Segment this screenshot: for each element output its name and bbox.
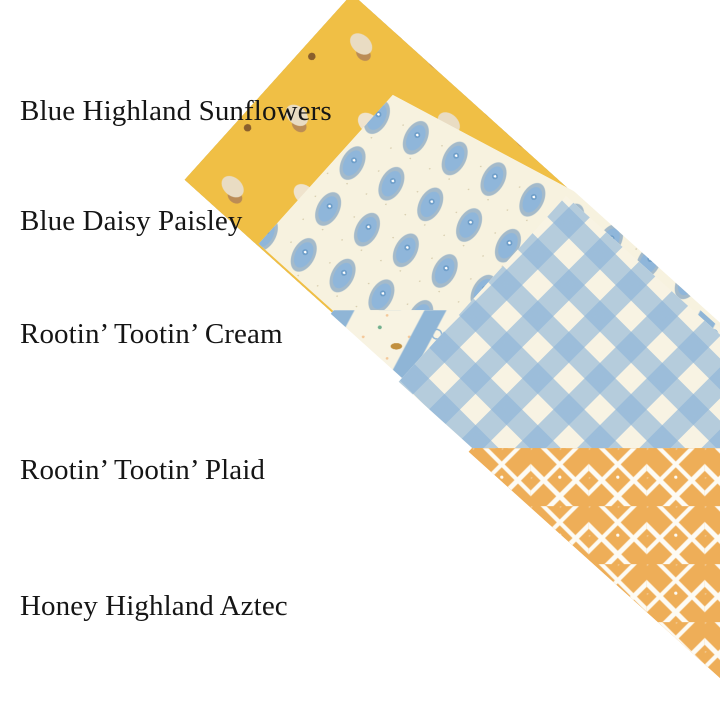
swatch-label-blue-daisy-paisley: Blue Daisy Paisley	[20, 207, 243, 236]
swatch-label-honey-highland-aztec: Honey Highland Aztec	[20, 592, 288, 621]
swatch-label-rootin-tootin-plaid: Rootin’ Tootin’ Plaid	[20, 456, 265, 485]
pattern-aztec-diamond-motif	[469, 448, 720, 720]
swatch-label-rootin-tootin-cream: Rootin’ Tootin’ Cream	[20, 320, 283, 349]
fabric-swatch-chart: Blue Highland Sunflowers Blue Daisy Pais…	[0, 0, 720, 720]
swatch-label-blue-highland-sunflowers: Blue Highland Sunflowers	[20, 97, 332, 126]
